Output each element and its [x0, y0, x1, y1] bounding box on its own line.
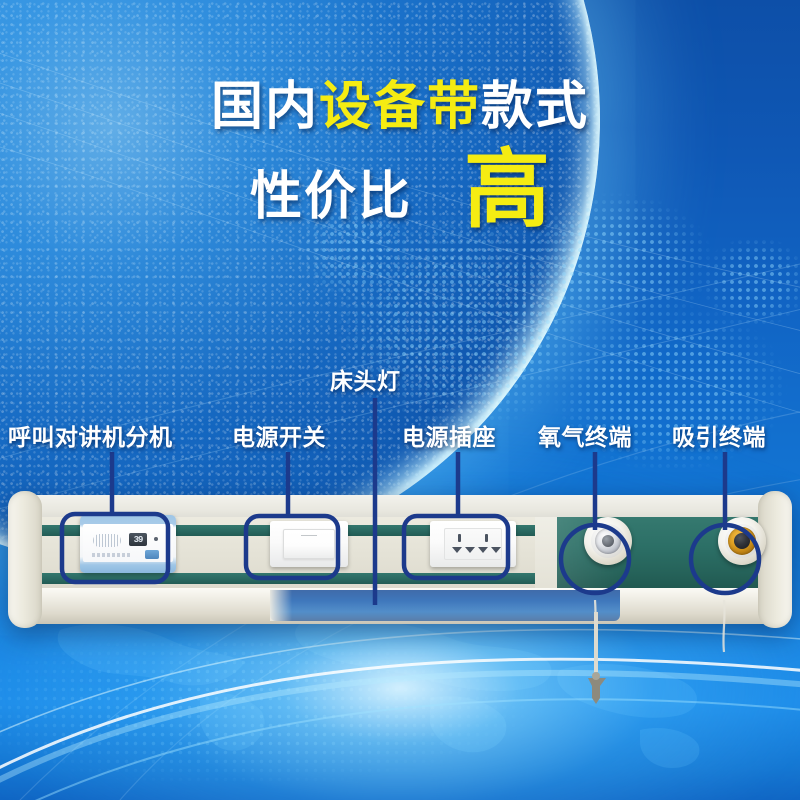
callout-labels: 呼叫对讲机分机 电源开关 床头灯 电源插座 氧气终端 吸引终端	[0, 0, 800, 800]
label-oxygen-outlet: 氧气终端	[538, 418, 632, 452]
label-intercom: 呼叫对讲机分机	[8, 418, 173, 452]
label-suction-outlet: 吸引终端	[672, 418, 766, 452]
label-power-socket: 电源插座	[402, 418, 496, 452]
label-power-switch: 电源开关	[232, 418, 326, 452]
label-bedside-lamp: 床头灯	[330, 362, 401, 396]
